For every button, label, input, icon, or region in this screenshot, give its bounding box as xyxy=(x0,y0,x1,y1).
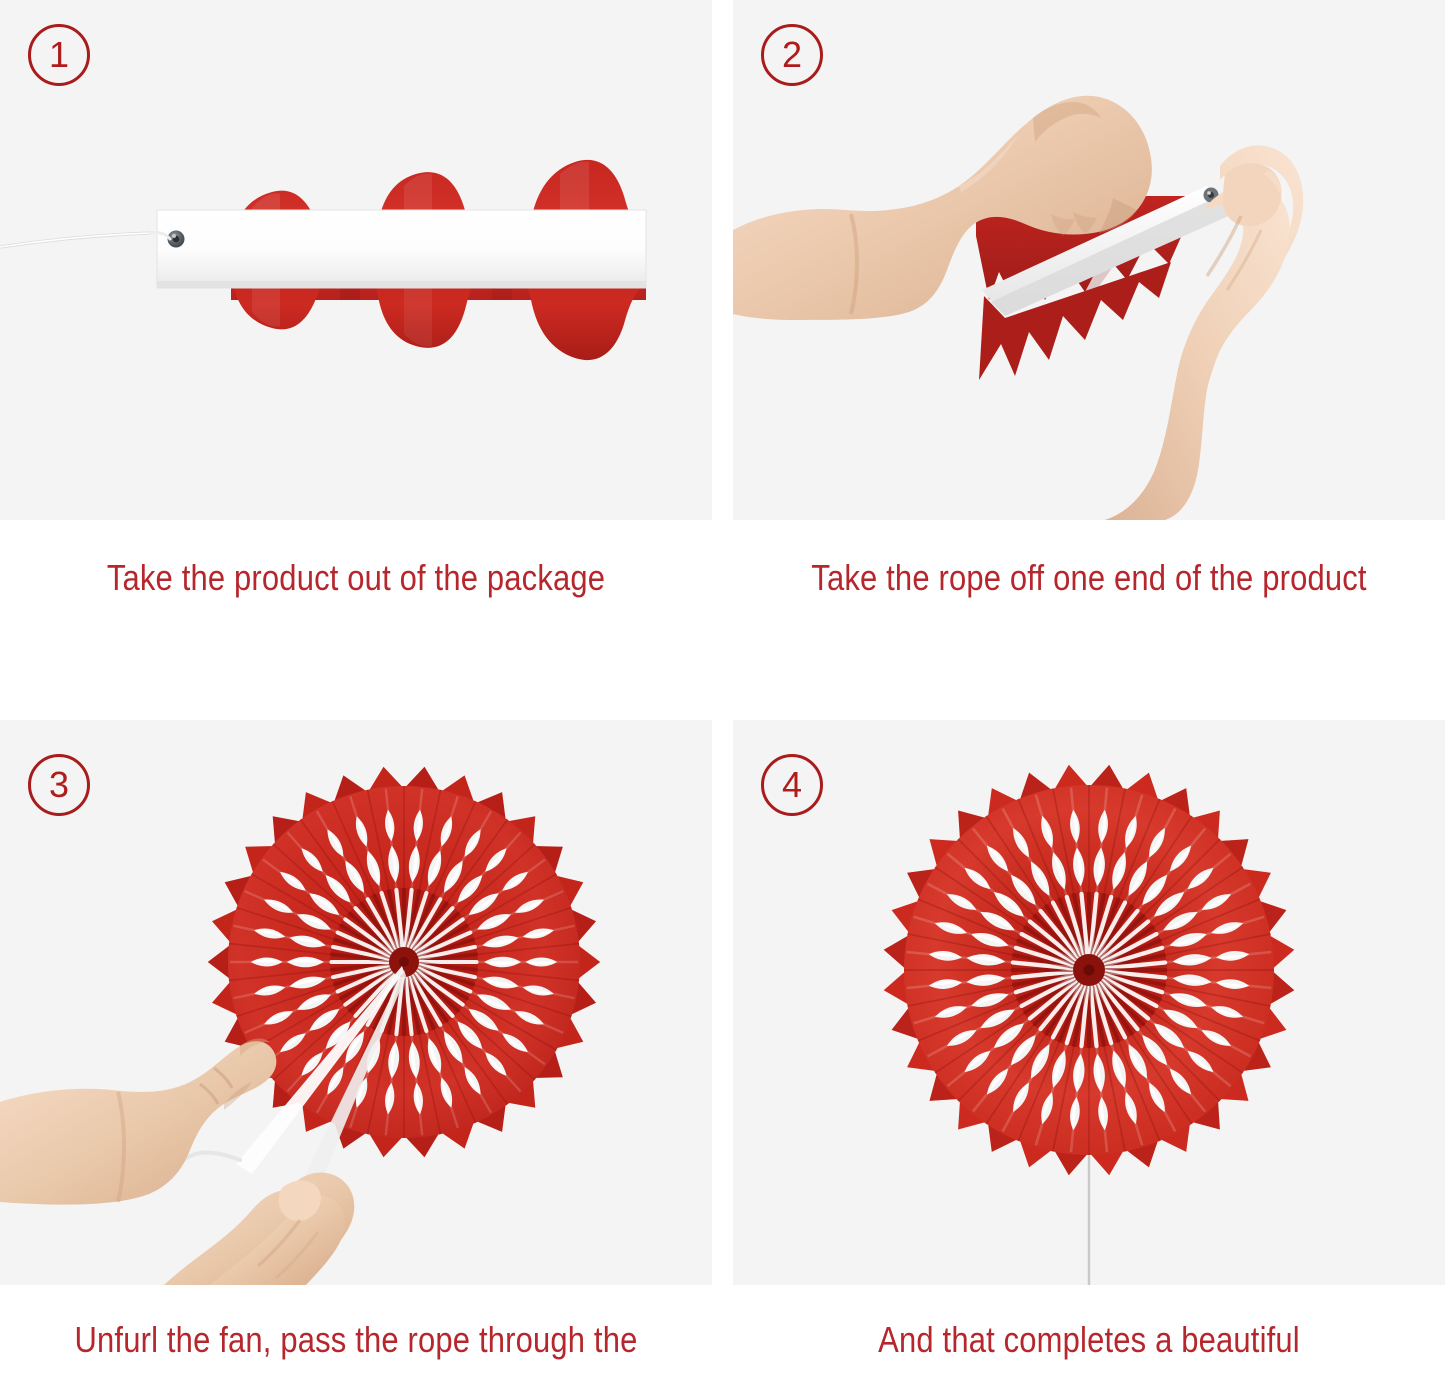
white-paper-strip xyxy=(157,210,646,288)
step-caption-4: And that completes a beautiful honeycomb… xyxy=(783,1318,1395,1365)
step-3-photo: 3 xyxy=(0,720,712,1285)
step-number-1: 1 xyxy=(49,37,69,73)
white-rope xyxy=(0,233,150,247)
folded-fan-illustration xyxy=(0,0,712,520)
red-honeycomb-fan xyxy=(884,765,1295,1176)
step-2-photo: 2 xyxy=(733,0,1445,520)
step-caption-1: Take the product out of the package xyxy=(50,556,662,601)
instruction-sheet: 1 Take the product out of the package xyxy=(0,0,1445,1380)
step-number-2: 2 xyxy=(782,37,802,73)
hands-removing-rope-illustration xyxy=(733,0,1445,520)
step-number-3: 3 xyxy=(49,767,69,803)
red-honeycomb-fan xyxy=(208,767,600,1157)
step-panel-2: 2 Take the rope off one end of the produ… xyxy=(733,0,1445,650)
step-caption-2: Take the rope off one end of the product xyxy=(783,556,1395,601)
hands-unfurling-fan-illustration xyxy=(0,720,712,1285)
step-number-badge-4: 4 xyxy=(761,754,823,816)
step-panel-4: 4 And that completes a beautiful honeyco… xyxy=(733,715,1445,1365)
step-caption-3: Unfurl the fan, pass the rope through th… xyxy=(50,1318,662,1365)
step-number-badge-2: 2 xyxy=(761,24,823,86)
step-4-photo: 4 xyxy=(733,720,1445,1285)
step-1-photo: 1 xyxy=(0,0,712,520)
step-number-badge-3: 3 xyxy=(28,754,90,816)
step-number-4: 4 xyxy=(782,767,802,803)
step-panel-1: 1 Take the product out of the package xyxy=(0,0,712,650)
step-number-badge-1: 1 xyxy=(28,24,90,86)
step-panel-3: 3 Unfurl the fan, pass the rope through … xyxy=(0,715,712,1365)
finished-fan-illustration xyxy=(733,720,1445,1285)
right-hand xyxy=(164,1172,354,1285)
left-hand xyxy=(0,1039,276,1205)
